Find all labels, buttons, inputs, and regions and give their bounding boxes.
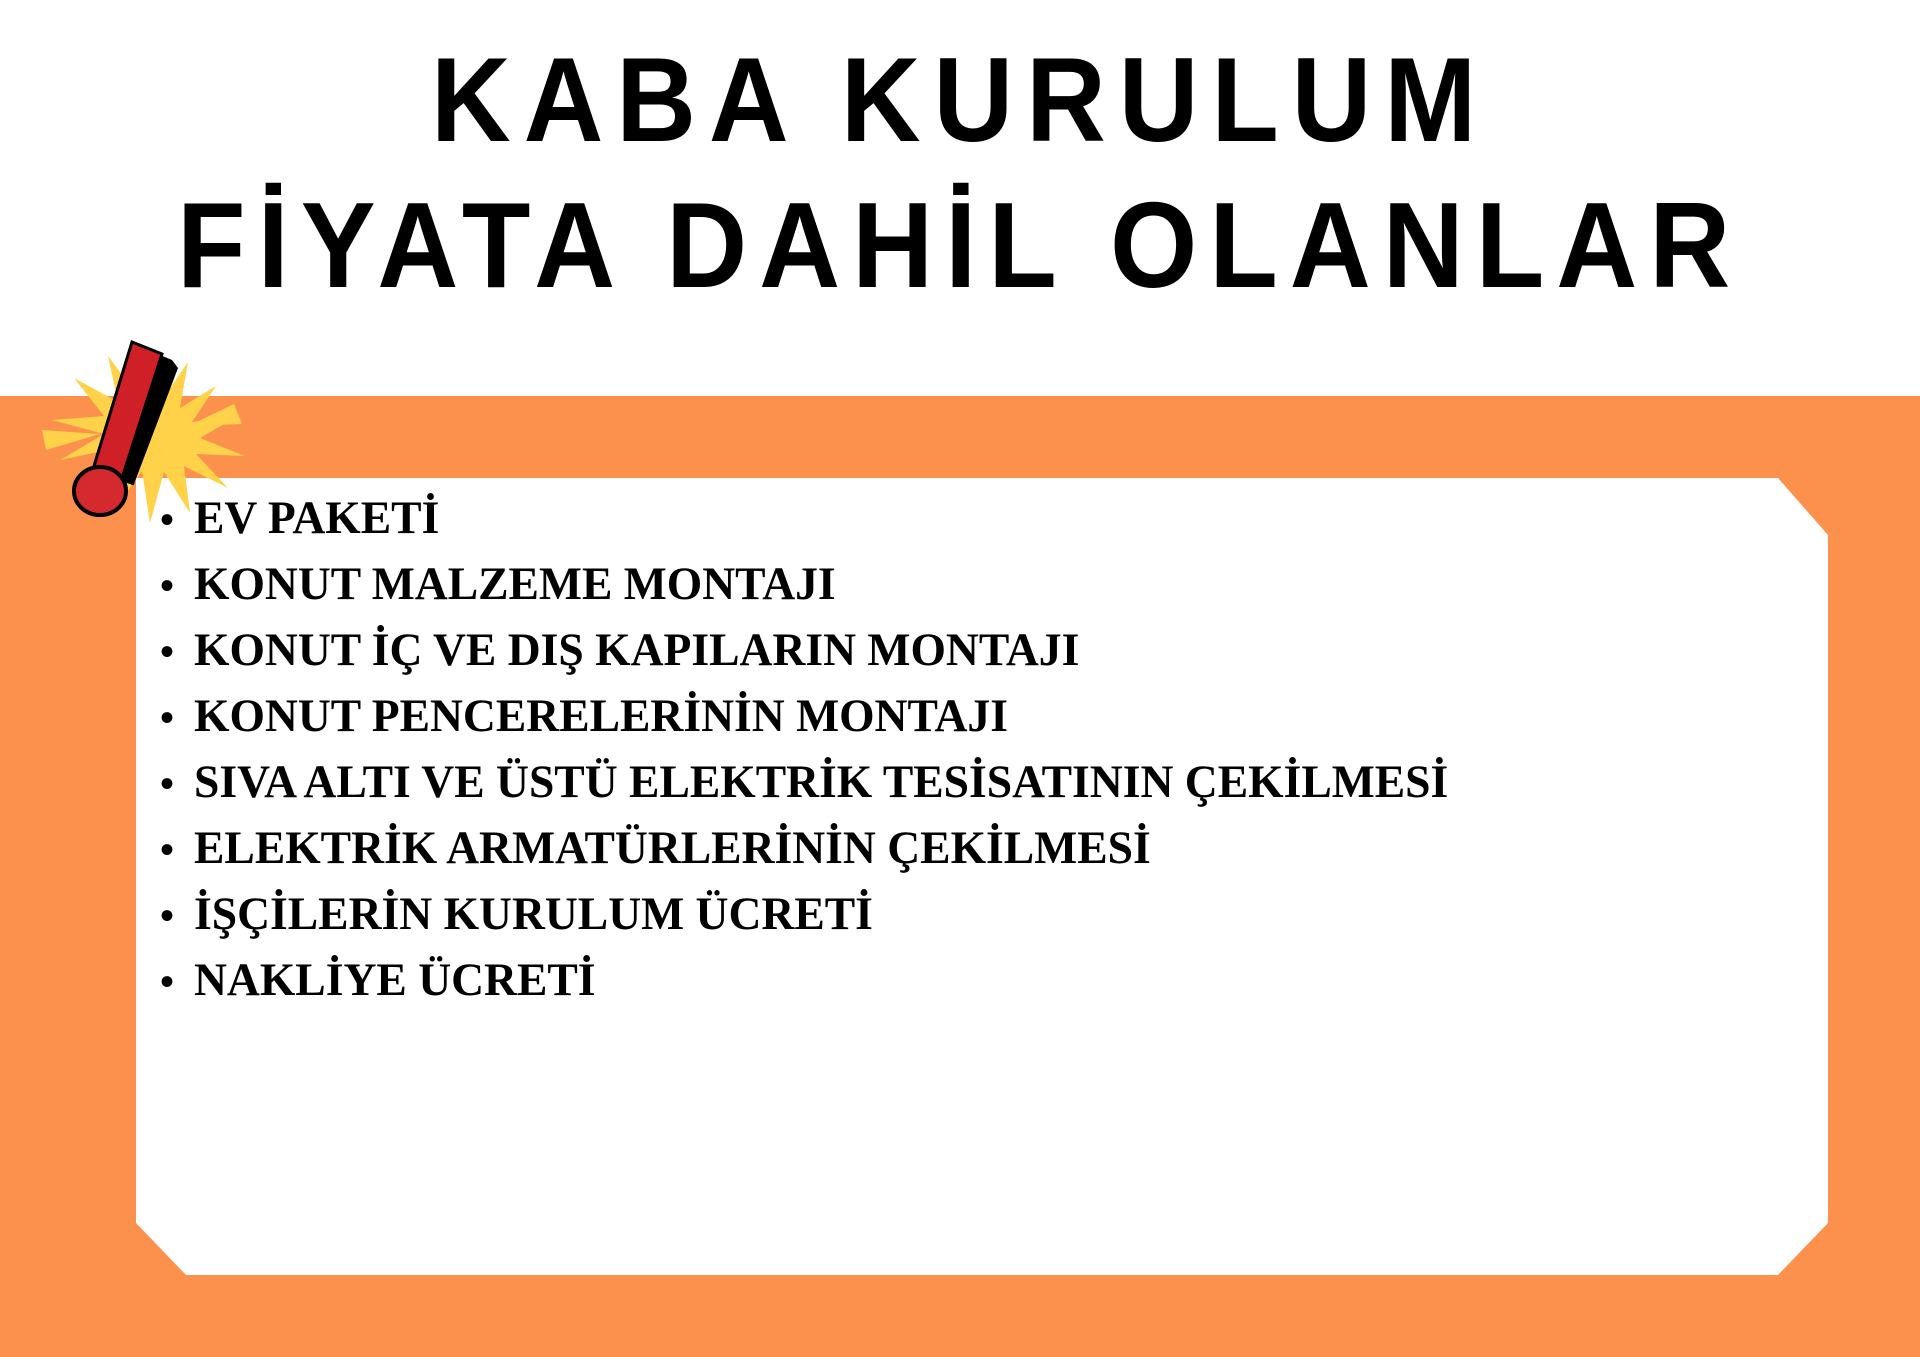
list-item: • EV PAKETİ — [160, 486, 1900, 552]
list-item-label: İŞÇİLERİN KURULUM ÜCRETİ — [194, 882, 873, 947]
list-item: • SIVA ALTI VE ÜSTÜ ELEKTRİK TESİSATININ… — [160, 750, 1900, 816]
list-item-label: SIVA ALTI VE ÜSTÜ ELEKTRİK TESİSATININ Ç… — [194, 750, 1448, 815]
list-item-label: KONUT İÇ VE DIŞ KAPILARIN MONTAJI — [194, 618, 1079, 683]
exclamation-burst-icon — [38, 338, 268, 528]
title-block: KABA KURULUM FİYATA DAHİL OLANLAR — [0, 0, 1920, 396]
bullet-point-icon: • — [160, 751, 194, 816]
exclaim-dot — [74, 467, 126, 515]
list-item-label: KONUT MALZEME MONTAJI — [194, 552, 836, 617]
page-title-line-2: FİYATA DAHİL OLANLAR — [177, 173, 1742, 318]
bullet-point-icon: • — [160, 685, 194, 750]
list-item: • KONUT MALZEME MONTAJI — [160, 552, 1900, 618]
bullet-point-icon: • — [160, 817, 194, 882]
list-item: • İŞÇİLERİN KURULUM ÜCRETİ — [160, 882, 1900, 948]
list-item-label: NAKLİYE ÜCRETİ — [194, 948, 596, 1013]
slide-root: KABA KURULUM FİYATA DAHİL OLANLAR • EV P… — [0, 0, 1920, 1357]
page-title-line-1: KABA KURULUM — [431, 28, 1489, 173]
bullet-point-icon: • — [160, 619, 194, 684]
included-items-list: • EV PAKETİ • KONUT MALZEME MONTAJI • KO… — [160, 486, 1900, 1014]
list-item: • KONUT İÇ VE DIŞ KAPILARIN MONTAJI — [160, 618, 1900, 684]
list-item-label: ELEKTRİK ARMATÜRLERİNİN ÇEKİLMESİ — [194, 816, 1151, 881]
list-item: • ELEKTRİK ARMATÜRLERİNİN ÇEKİLMESİ — [160, 816, 1900, 882]
bullet-point-icon: • — [160, 949, 194, 1014]
bullet-point-icon: • — [160, 553, 194, 618]
list-item: • NAKLİYE ÜCRETİ — [160, 948, 1900, 1014]
bullet-point-icon: • — [160, 883, 194, 948]
list-item-label: KONUT PENCERELERİNİN MONTAJI — [194, 684, 1008, 749]
list-item: • KONUT PENCERELERİNİN MONTAJI — [160, 684, 1900, 750]
